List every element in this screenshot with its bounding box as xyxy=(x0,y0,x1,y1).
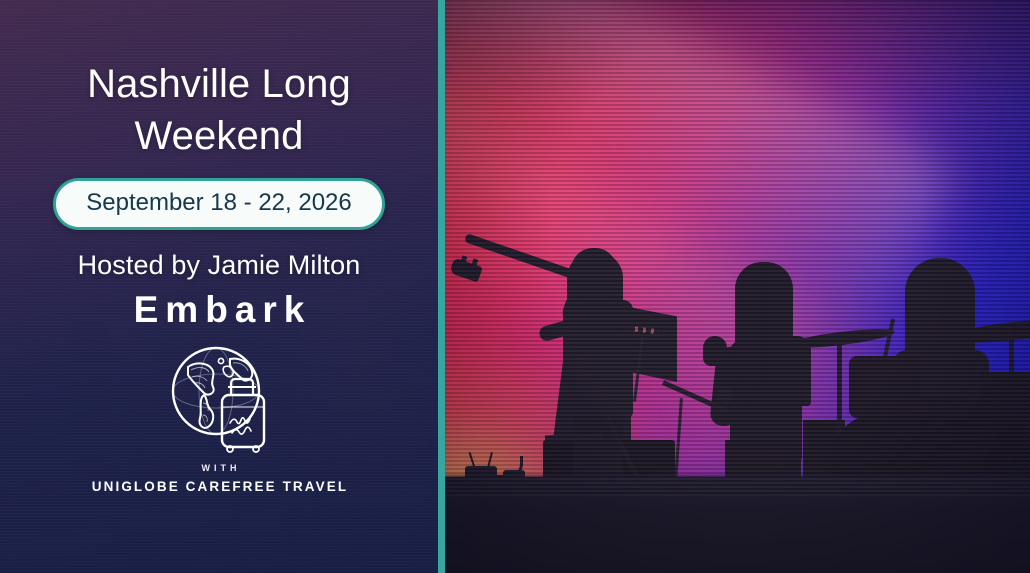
brand-partner-label: UNIGLOBE CAREFREE TRAVEL xyxy=(90,479,348,494)
singer-head xyxy=(741,266,785,318)
band-photo xyxy=(445,0,1030,573)
microphone xyxy=(717,386,733,404)
globe-suitcase-icon xyxy=(158,333,280,460)
bassist-head xyxy=(571,248,617,302)
drummer-head xyxy=(915,262,965,318)
embark-logo: Embark xyxy=(90,289,348,494)
drum-hardware-highlight xyxy=(445,32,453,46)
vertical-divider xyxy=(438,0,445,573)
singer-hand xyxy=(703,336,727,366)
brand-with-label: WITH xyxy=(197,463,240,473)
stage-floor xyxy=(445,477,1030,573)
bassist-legs xyxy=(573,416,623,478)
event-promo-banner: Nashville Long Weekend September 18 - 22… xyxy=(0,0,1030,573)
brand-wordmark: Embark xyxy=(127,289,312,331)
date-badge: September 18 - 22, 2026 xyxy=(53,178,385,230)
drum-hardware-highlight xyxy=(445,46,451,62)
drum-hardware-highlight xyxy=(445,62,452,74)
page-title: Nashville Long Weekend xyxy=(39,58,399,162)
left-info-panel: Nashville Long Weekend September 18 - 22… xyxy=(0,0,438,573)
host-label: Hosted by Jamie Milton xyxy=(78,250,361,281)
left-panel-content: Nashville Long Weekend September 18 - 22… xyxy=(0,0,438,573)
